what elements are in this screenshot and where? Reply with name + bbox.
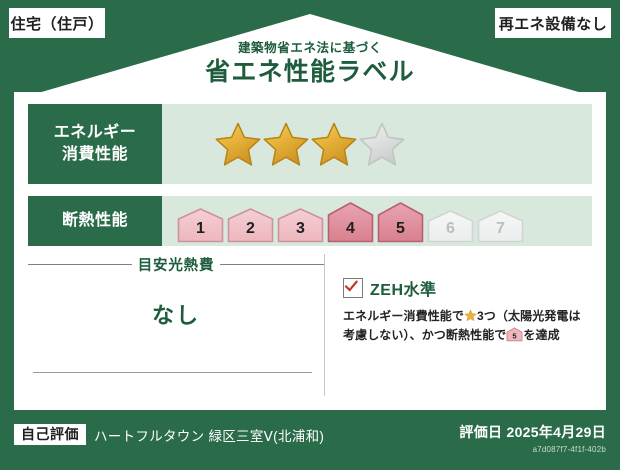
star-filled-icon bbox=[263, 121, 309, 167]
insulation-grade-filled: 3 bbox=[277, 199, 324, 243]
zeh-header: ZEH水準 bbox=[343, 276, 592, 300]
insulation-grade-empty: 7 bbox=[477, 199, 524, 243]
energy-performance-row: エネルギー 消費性能 bbox=[28, 104, 592, 184]
footer-left: 自己評価 ハートフルタウン 緑区三室Ⅴ(北浦和) bbox=[14, 424, 324, 445]
insulation-grade-filled: 1 bbox=[177, 199, 224, 243]
energy-performance-value-cell bbox=[162, 104, 592, 184]
evaluation-date: 評価日 2025年4月29日 bbox=[459, 422, 606, 442]
insulation-label: 断熱性能 bbox=[62, 210, 128, 232]
insulation-performance-label-cell: 断熱性能 bbox=[28, 196, 162, 246]
label-title-block: 建築物省エネ法に基づく 省エネ性能ラベル bbox=[0, 40, 620, 89]
tag-renewable-label: 再エネ設備なし bbox=[499, 13, 608, 34]
svg-text:5: 5 bbox=[513, 331, 517, 340]
cost-rule-right bbox=[220, 264, 324, 265]
footer-right: 評価日 2025年4月29日 a7d087f7-4f1f-402b bbox=[459, 422, 606, 454]
zeh-checkbox-checked-icon bbox=[343, 278, 363, 298]
label-footer: 自己評価 ハートフルタウン 緑区三室Ⅴ(北浦和) 評価日 2025年4月29日 … bbox=[0, 410, 620, 470]
label-card: エネルギー 消費性能 断熱性能 1234567 目安光熱費 bbox=[14, 92, 606, 410]
energy-performance-label-cell: エネルギー 消費性能 bbox=[28, 104, 162, 184]
cost-rule-left bbox=[28, 264, 132, 265]
insulation-grade-filled: 2 bbox=[227, 199, 274, 243]
zeh-desc-part1: エネルギー消費性能で bbox=[343, 309, 464, 323]
utility-cost-header: 目安光熱費 bbox=[28, 254, 324, 275]
zeh-desc-part4: を達成 bbox=[523, 328, 559, 342]
star-rating bbox=[215, 121, 405, 167]
document-id: a7d087f7-4f1f-402b bbox=[459, 445, 606, 454]
zeh-description: エネルギー消費性能で3つ（太陽光発電は考慮しない）、かつ断熱性能で5を達成 bbox=[343, 307, 592, 344]
zeh-title: ZEH水準 bbox=[370, 276, 437, 300]
cost-bottom-divider bbox=[33, 372, 312, 373]
insulation-grade-filled: 4 bbox=[327, 199, 374, 243]
energy-label-line1: エネルギー bbox=[54, 122, 137, 144]
page-title: 省エネ性能ラベル bbox=[0, 57, 620, 88]
star-filled-icon bbox=[215, 121, 261, 167]
tag-dwelling-label: 住宅（住戸） bbox=[10, 13, 103, 34]
utility-cost-title: 目安光熱費 bbox=[138, 254, 215, 275]
star-empty-icon bbox=[359, 121, 405, 167]
self-evaluation-badge: 自己評価 bbox=[14, 424, 86, 445]
insulation-grade-filled: 5 bbox=[377, 199, 424, 243]
energy-performance-label: 住宅（住戸） 再エネ設備なし 建築物省エネ法に基づく 省エネ性能ラベル エネルギ… bbox=[0, 0, 620, 470]
insulation-grade-scale: 1234567 bbox=[177, 199, 524, 243]
utility-cost-value: なし bbox=[28, 298, 324, 330]
insulation-performance-value-cell: 1234567 bbox=[162, 196, 592, 246]
label-subtitle: 建築物省エネ法に基づく bbox=[0, 40, 620, 56]
property-name: ハートフルタウン 緑区三室Ⅴ(北浦和) bbox=[94, 425, 324, 445]
tag-dwelling-type: 住宅（住戸） bbox=[8, 7, 106, 39]
zeh-pane: ZEH水準 エネルギー消費性能で3つ（太陽光発電は考慮しない）、かつ断熱性能で5… bbox=[325, 254, 592, 396]
insulation-grade-empty: 6 bbox=[427, 199, 474, 243]
energy-label-line2: 消費性能 bbox=[62, 144, 128, 166]
utility-cost-pane: 目安光熱費 なし bbox=[28, 254, 325, 396]
inline-grade-house-icon: 5 bbox=[506, 327, 523, 342]
star-filled-icon bbox=[311, 121, 357, 167]
insulation-performance-row: 断熱性能 1234567 bbox=[28, 196, 592, 246]
zeh-desc-part2: 3つ（太陽光発電 bbox=[477, 309, 568, 323]
inline-star-icon bbox=[464, 309, 477, 322]
tag-renewable-equipment: 再エネ設備なし bbox=[494, 7, 612, 39]
lower-section: 目安光熱費 なし ZEH水準 エネルギー消費性能で3つ（太陽光発電は考慮しな bbox=[28, 254, 592, 396]
